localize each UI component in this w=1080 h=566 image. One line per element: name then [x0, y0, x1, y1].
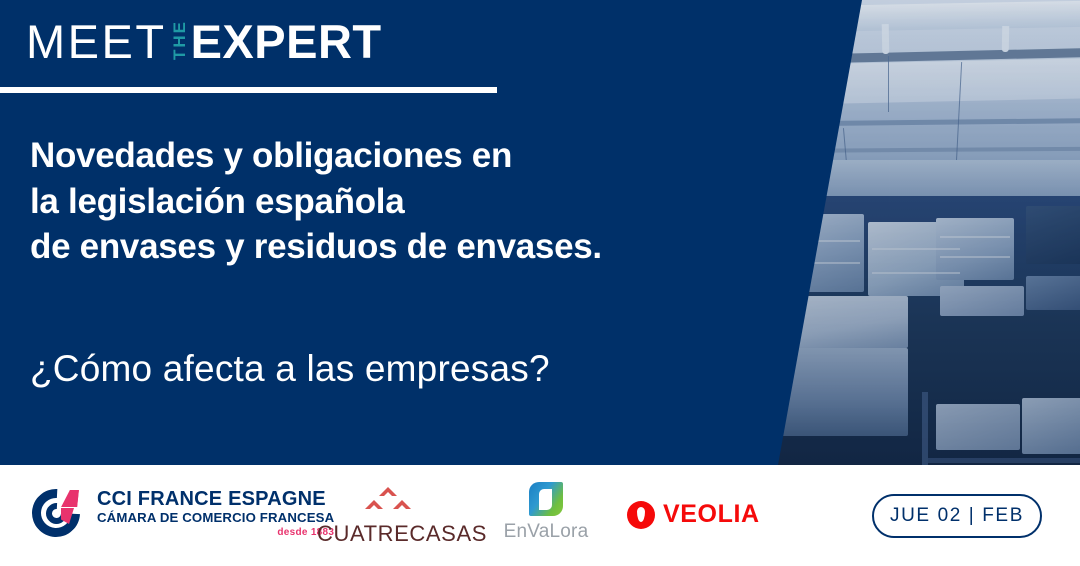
- cuatrecasas-wordmark: CUATRECASAS: [317, 521, 459, 547]
- header-rule: [0, 87, 497, 93]
- envalora-leaf-icon: [529, 482, 563, 516]
- cci-line-1: CCI FRANCE ESPAGNE: [97, 488, 334, 510]
- leaf-notch: [539, 489, 552, 510]
- date-badge[interactable]: JUE 02 | FEB: [872, 494, 1042, 538]
- veolia-wordmark: VEOLIA: [663, 500, 760, 529]
- chevron-icon: [379, 487, 397, 496]
- cci-flag-accent: [61, 490, 79, 507]
- logo-cuatrecasas[interactable]: CUATRECASAS: [317, 487, 459, 547]
- logo-envalora[interactable]: EnVaLora: [492, 482, 600, 543]
- cuatrecasas-chevrons-icon: [360, 487, 416, 517]
- date-badge-label: JUE 02 | FEB: [890, 505, 1024, 527]
- event-banner: MEET THE EXPERT Novedades y obligaciones…: [0, 0, 1080, 566]
- headline: Novedades y obligaciones en la legislaci…: [30, 133, 820, 270]
- cci-line-3: desde 1883: [97, 527, 334, 538]
- cci-wordmark: CCI FRANCE ESPAGNE CÁMARA DE COMERCIO FR…: [97, 488, 334, 538]
- kicker-the: THE: [171, 18, 188, 62]
- droplet-shape: [637, 507, 645, 522]
- veolia-droplet-icon: [627, 501, 655, 529]
- headline-line-3: de envases y residuos de envases.: [30, 224, 820, 270]
- chevron-icon: [393, 500, 411, 509]
- subheadline: ¿Cómo afecta a las empresas?: [30, 348, 550, 390]
- headline-line-2: la legislación española: [30, 179, 820, 225]
- logo-cci-france-espagne[interactable]: CCI FRANCE ESPAGNE CÁMARA DE COMERCIO FR…: [32, 486, 334, 540]
- kicker-meet: MEET: [26, 18, 167, 65]
- headline-line-1: Novedades y obligaciones en: [30, 133, 820, 179]
- kicker-expert: EXPERT: [191, 18, 382, 65]
- cci-logo-icon: [32, 486, 88, 540]
- cci-line-2: CÁMARA DE COMERCIO FRANCESA: [97, 510, 334, 526]
- logo-veolia[interactable]: VEOLIA: [627, 500, 760, 529]
- envalora-wordmark: EnVaLora: [492, 521, 600, 543]
- chevron-icon: [365, 500, 383, 509]
- meet-the-expert-lockup: MEET THE EXPERT: [26, 18, 382, 65]
